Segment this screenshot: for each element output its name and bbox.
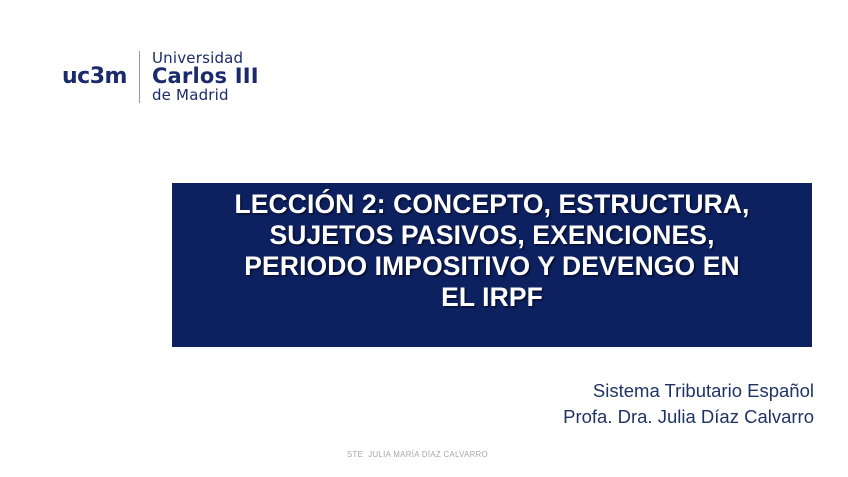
course-name: Sistema Tributario Español xyxy=(563,378,814,404)
slide-footer: STE JULIA MARÍA DÍAZ CALVARRO xyxy=(347,450,488,459)
slide-title-line-4: EL IRPF xyxy=(441,282,543,312)
university-name-block: Universidad Carlos III de Madrid xyxy=(152,51,259,103)
author-name: Profa. Dra. Julia Díaz Calvarro xyxy=(563,404,814,430)
logo-divider xyxy=(139,51,140,103)
university-name-line-2: Carlos III xyxy=(152,66,259,87)
presentation-slide: uc3m Universidad Carlos III de Madrid LE… xyxy=(0,0,848,477)
title-banner: LECCIÓN 2: CONCEPTO, ESTRUCTURA, SUJETOS… xyxy=(172,183,812,347)
slide-title-line-1: LECCIÓN 2: CONCEPTO, ESTRUCTURA, xyxy=(234,189,749,219)
slide-title: LECCIÓN 2: CONCEPTO, ESTRUCTURA, SUJETOS… xyxy=(182,189,802,313)
slide-title-line-3: PERIODO IMPOSITIVO Y DEVENGO EN xyxy=(244,251,739,281)
slide-subtitle: Sistema Tributario Español Profa. Dra. J… xyxy=(563,378,814,431)
uc3m-wordmark: uc3m xyxy=(62,66,139,88)
uc3m-logo: uc3m Universidad Carlos III de Madrid xyxy=(62,48,259,106)
university-name-line-3: de Madrid xyxy=(152,88,259,103)
slide-title-line-2: SUJETOS PASIVOS, EXENCIONES, xyxy=(269,220,714,250)
